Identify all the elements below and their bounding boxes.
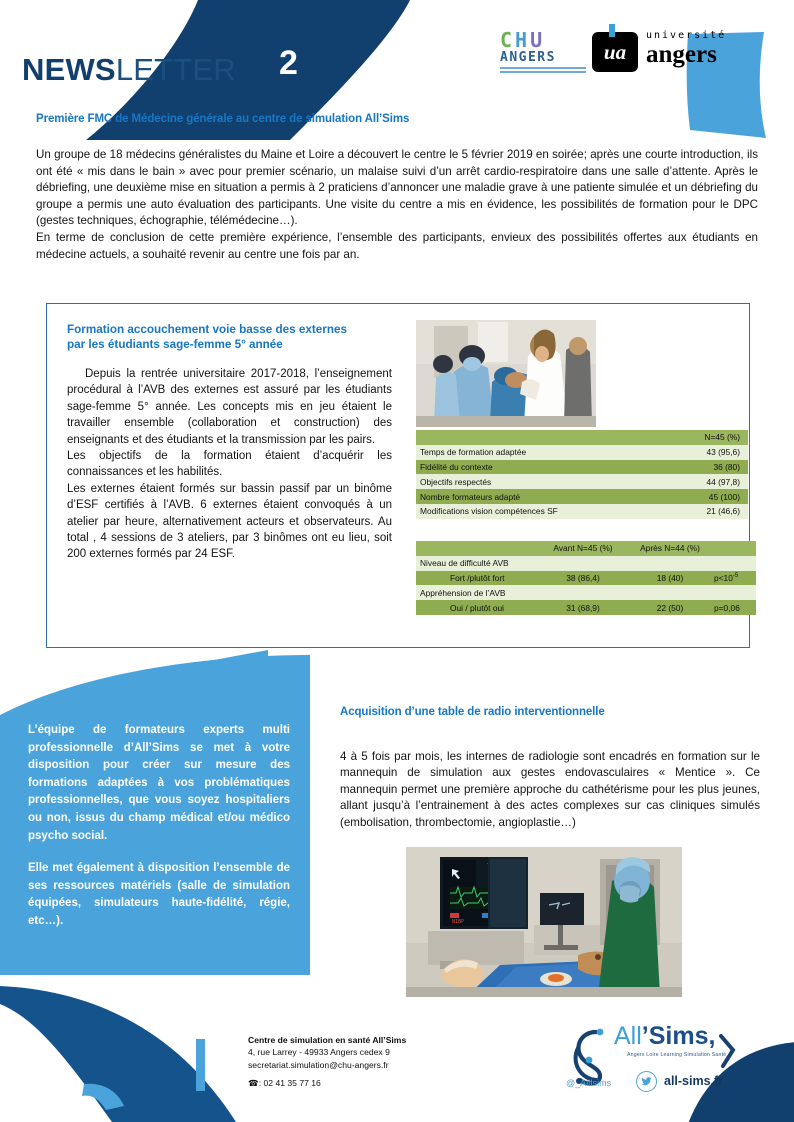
feature-heading-line1: Formation accouchement voie basse des ex… <box>67 323 347 336</box>
equipe-paragraph-2: Elle met également à disposition l’ensem… <box>28 860 290 930</box>
table-row: Objectifs respectés 44 (97,8) <box>416 474 748 489</box>
table-head-n45: N=45 (%) <box>634 430 748 445</box>
chu-logo-bars <box>500 67 586 73</box>
twitter-icon[interactable] <box>636 1071 657 1092</box>
chu-logo-subtitle: ANGERS <box>500 51 586 65</box>
fmc-paragraph-2: En terme de conclusion de cette première… <box>36 230 758 263</box>
table-cell-value: 21 (46,6) <box>634 504 748 519</box>
table-cell-label: Appréhension de l’AVB <box>416 585 536 600</box>
table-cell-pvalue <box>710 556 756 571</box>
table-cell-value: 45 (100) <box>634 489 748 504</box>
fmc-paragraph-1: Un groupe de 18 médecins généralistes du… <box>36 147 758 230</box>
table-row: Niveau de difficulté AVB <box>416 556 756 571</box>
avb-paragraph-3: Les externes étaient formés sur bassin p… <box>67 481 392 563</box>
table-cell-value: 18 (40) <box>630 571 710 586</box>
table-cell-value <box>536 585 630 600</box>
table-row: Fidélité du contexte 36 (80) <box>416 460 748 475</box>
footer-address-block: Centre de simulation en santé All’Sims 4… <box>248 1034 538 1090</box>
universite-angers-wordmark: université angers <box>646 30 726 67</box>
partner-logos: CHU ANGERS ua université angers <box>500 26 750 88</box>
newsletter-title-light: LETTER <box>116 52 236 87</box>
table-cell-value <box>630 585 710 600</box>
section-body-fmc: Un groupe de 18 médecins généralistes du… <box>36 147 758 263</box>
table-cell-label: Objectifs respectés <box>416 474 634 489</box>
table-avant-apres: Avant N=45 (%) Après N=44 (%) Niveau de … <box>416 541 756 615</box>
ua-mark-letters: ua <box>604 40 626 65</box>
table-cell-value: 36 (80) <box>634 460 748 475</box>
table-cell-pvalue: p<10-5 <box>710 571 756 586</box>
table-head-avant: Avant N=45 (%) <box>536 541 630 556</box>
table-cell-value: 43 (95,6) <box>634 445 748 460</box>
avb-paragraph-1: Depuis la rentrée universitaire 2017-201… <box>67 366 392 448</box>
table-cell-label: Modifications vision compétences SF <box>416 504 634 519</box>
table-cell-value: 31 (68,9) <box>536 600 630 615</box>
ua-mark-tick <box>609 24 615 37</box>
issue-number: 2 <box>279 44 298 83</box>
chu-angers-logo: CHU ANGERS <box>500 30 586 75</box>
feature-heading-avb: Formation accouchement voie basse des ex… <box>67 322 397 352</box>
table-evaluation-formation: N=45 (%) Temps de formation adaptée 43 (… <box>416 430 748 519</box>
universite-angers-mark: ua <box>592 32 638 72</box>
table-cell-label: Fidélité du contexte <box>416 460 634 475</box>
allsims-wordmark: All’Sims, <box>614 1024 715 1049</box>
table-avant-apres-body: Avant N=45 (%) Après N=44 (%) Niveau de … <box>416 541 756 615</box>
allsims-tagline: Angers Loire Learning Simulation Santé <box>627 1052 726 1058</box>
table-cell-label: Niveau de difficulté AVB <box>416 556 536 571</box>
radio-paragraph-1: 4 à 5 fois par mois, les internes de rad… <box>340 749 760 832</box>
section-heading-fmc: Première FMC de Médecine générale au cen… <box>36 113 409 125</box>
table-head-blank <box>416 430 634 445</box>
footer-phone: : 02 41 35 77 16 <box>259 1078 321 1088</box>
photo-radio-interventionnelle: NIBP <box>406 847 682 997</box>
table-row: Oui / plutôt oui 31 (68,9) 22 (50) p=0,0… <box>416 600 756 615</box>
section-heading-radio: Acquisition d’une table de radio interve… <box>340 706 605 718</box>
ua-word-angers: angers <box>646 42 726 67</box>
table-cell-value <box>536 556 630 571</box>
table-row-header: N=45 (%) <box>416 430 748 445</box>
allsims-word-all: All <box>614 1022 642 1050</box>
chu-logo-letters: CHU <box>500 30 586 50</box>
table-cell-pvalue: p=0,06 <box>710 600 756 615</box>
table-cell-value: 44 (97,8) <box>634 474 748 489</box>
table-cell-label: Nombre formateurs adapté <box>416 489 634 504</box>
table-cell-pvalue <box>710 585 756 600</box>
table-head-blank <box>416 541 536 556</box>
phone-icon: ☎ <box>248 1078 259 1088</box>
table-cell-value: 22 (50) <box>630 600 710 615</box>
table-cell-label: Oui / plutôt oui <box>416 600 536 615</box>
newsletter-title-bold: NEWS <box>22 52 116 87</box>
newsletter-title: NEWSLETTER <box>22 52 236 88</box>
table-cell-label: Fort /plutôt fort <box>416 571 536 586</box>
website-url[interactable]: all-sims.fr <box>664 1074 723 1088</box>
table-row: Nombre formateurs adapté 45 (100) <box>416 489 748 504</box>
footer-address: 4, rue Larrey - 49933 Angers cedex 9 <box>248 1046 538 1058</box>
newsletter-page: NEWSLETTER 2 CHU ANGERS ua université an… <box>0 0 794 1122</box>
feature-heading-line2: par les étudiants sage-femme 5° année <box>67 338 283 351</box>
table-cell-value: 38 (86,4) <box>536 571 630 586</box>
svg-text:NIBP: NIBP <box>452 919 464 925</box>
equipe-paragraph-1: L’équipe de formateurs experts multi pro… <box>28 722 290 845</box>
table-row: Fort /plutôt fort 38 (86,4) 18 (40) p<10… <box>416 571 756 586</box>
small-blue-triangle-decoration <box>150 648 270 672</box>
photo-accouchement-simulation <box>416 320 596 427</box>
twitter-handle[interactable]: @_AllIsims <box>566 1078 611 1088</box>
footer-org-name: Centre de simulation en santé All’Sims <box>248 1034 538 1046</box>
table-row: Appréhension de l’AVB <box>416 585 756 600</box>
table-head-pvalue <box>710 541 756 556</box>
avb-paragraph-2: Les objectifs de la formation étaient d’… <box>67 448 392 481</box>
table-cell-value <box>630 556 710 571</box>
feature-body-avb: Depuis la rentrée universitaire 2017-201… <box>67 366 392 563</box>
table-row: Temps de formation adaptée 43 (95,6) <box>416 445 748 460</box>
ua-word-universite: université <box>646 30 726 41</box>
table-head-apres: Après N=44 (%) <box>630 541 710 556</box>
section-body-radio: 4 à 5 fois par mois, les internes de rad… <box>340 737 760 843</box>
table-evaluation-body: N=45 (%) Temps de formation adaptée 43 (… <box>416 430 748 519</box>
footer-email[interactable]: secretariat.simulation@chu-angers.fr <box>248 1059 538 1071</box>
table-cell-label: Temps de formation adaptée <box>416 445 634 460</box>
table-row: Modifications vision compétences SF 21 (… <box>416 504 748 519</box>
allsims-word-sims: ’Sims, <box>642 1022 716 1050</box>
equipe-panel-text: L’équipe de formateurs experts multi pro… <box>28 722 290 931</box>
footer-accent-bar <box>196 1039 205 1091</box>
footer-phone-line: ☎: 02 41 35 77 16 <box>248 1077 538 1089</box>
table-row-header: Avant N=45 (%) Après N=44 (%) <box>416 541 756 556</box>
